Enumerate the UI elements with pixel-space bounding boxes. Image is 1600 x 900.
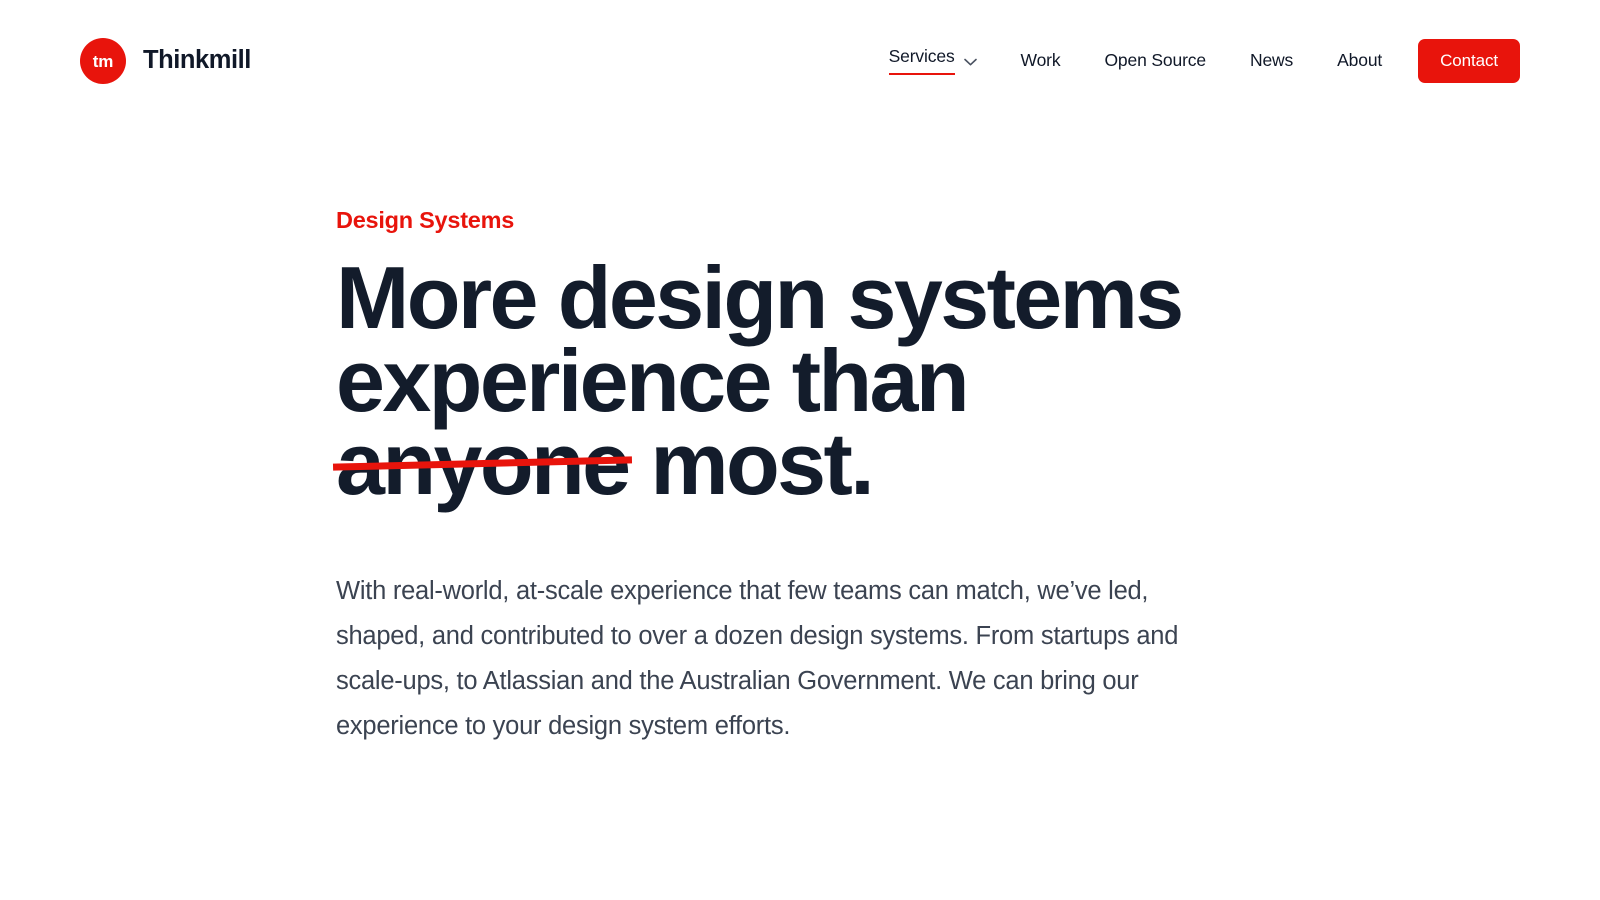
nav-item-news[interactable]: News — [1250, 45, 1293, 76]
contact-button[interactable]: Contact — [1418, 39, 1520, 83]
nav-item-about-label: About — [1337, 51, 1382, 70]
nav-item-work[interactable]: Work — [1021, 45, 1061, 76]
hero-body-paragraph: With real-world, at-scale experience tha… — [336, 569, 1236, 749]
hero-heading-line-2: experience than — [336, 339, 1336, 422]
nav-item-open-source-label: Open Source — [1104, 51, 1205, 70]
thinkmill-logo-icon: tm — [80, 38, 126, 84]
hero-eyebrow: Design Systems — [336, 206, 1336, 234]
hero-heading: More design systems experience than anyo… — [336, 256, 1336, 505]
brand-logo-link[interactable]: tm Thinkmill — [80, 38, 251, 84]
brand-mark-text: tm — [93, 53, 113, 70]
nav-item-services[interactable]: Services — [889, 41, 977, 81]
site-header: tm Thinkmill Services Work Open Source N… — [0, 0, 1600, 122]
hero-heading-line-1: More design systems — [336, 256, 1336, 339]
main-navigation: Services Work Open Source News About Con… — [889, 39, 1520, 83]
brand-name: Thinkmill — [143, 48, 251, 74]
nav-item-open-source[interactable]: Open Source — [1104, 45, 1205, 76]
hero-replacement-word: most. — [629, 414, 873, 513]
nav-item-news-label: News — [1250, 51, 1293, 70]
chevron-down-icon — [964, 58, 977, 66]
hero-struck-word: anyone — [336, 414, 629, 513]
hero-struck-word-wrap: anyone — [336, 422, 629, 505]
nav-item-services-label: Services — [889, 47, 955, 75]
hero-section: Design Systems More design systems exper… — [336, 206, 1336, 749]
nav-item-work-label: Work — [1021, 51, 1061, 70]
hero-heading-line-3: anyone most. — [336, 422, 1336, 505]
nav-item-about[interactable]: About — [1337, 45, 1382, 76]
